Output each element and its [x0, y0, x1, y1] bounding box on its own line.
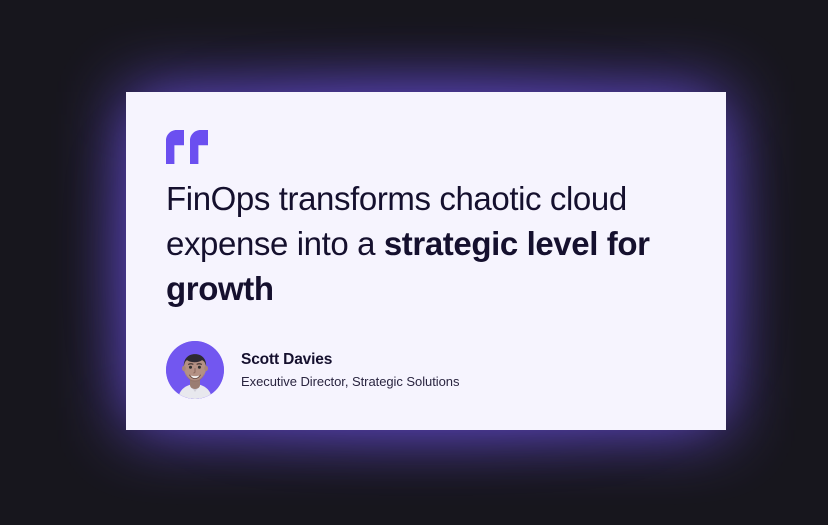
author-meta: Scott Davies Executive Director, Strateg… [241, 350, 459, 391]
double-quote-icon [166, 130, 208, 164]
quote-line-2-bold: strategic level [384, 225, 598, 262]
quote-line-2-regular: expense into a [166, 225, 384, 262]
quote-line-1: FinOps transforms chaotic cloud [166, 180, 627, 217]
quote-text: FinOps transforms chaotic cloud expense … [166, 176, 686, 311]
page-backdrop: FinOps transforms chaotic cloud expense … [0, 0, 828, 525]
testimonial-card: FinOps transforms chaotic cloud expense … [126, 92, 726, 430]
author-block: Scott Davies Executive Director, Strateg… [166, 341, 686, 399]
avatar [166, 341, 224, 399]
author-title: Executive Director, Strategic Solutions [241, 372, 459, 391]
author-name: Scott Davies [241, 350, 459, 370]
